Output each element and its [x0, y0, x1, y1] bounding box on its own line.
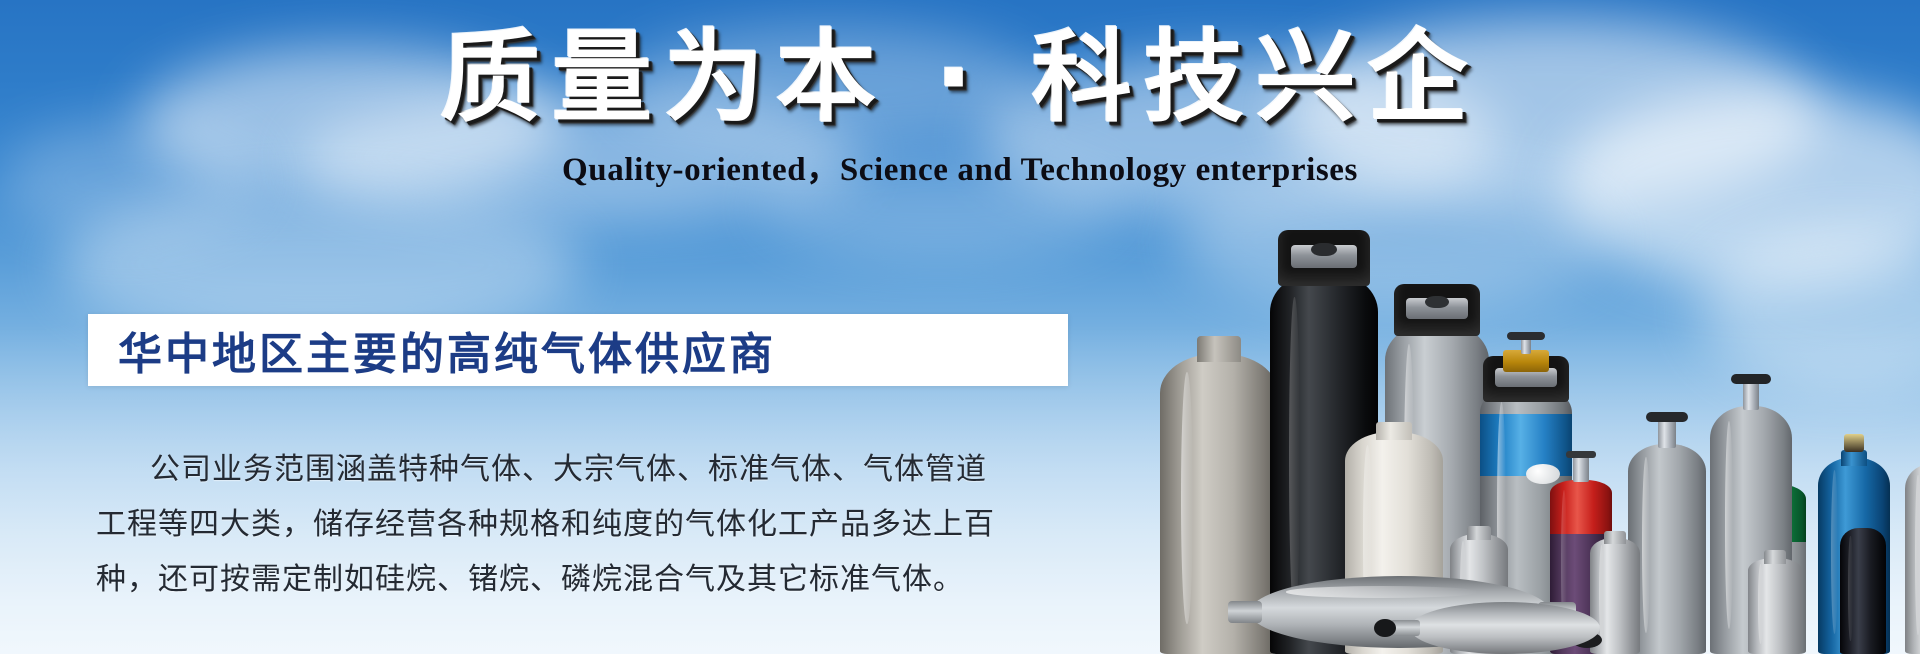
aluminium-small-cylinder: [1748, 558, 1802, 654]
description-line-3: 种，还可按需定制如硅烷、锗烷、磷烷混合气及其它标准气体。: [96, 552, 1046, 607]
hero-banner: 质量为本 · 科技兴企 Quality-oriented，Science and…: [0, 0, 1920, 654]
banner-headline: 质量为本 · 科技兴企: [0, 22, 1920, 134]
callout-text: 华中地区主要的高纯气体供应商: [118, 318, 776, 382]
description-line-2: 工程等四大类，储存经营各种规格和纯度的气体化工产品多达上百: [96, 497, 1046, 552]
horizontal-small-tank: [1410, 602, 1600, 654]
gas-cylinder-collage: [1150, 180, 1920, 654]
callout-box: 华中地区主要的高纯气体供应商: [88, 314, 1068, 386]
description-line-1: 公司业务范围涵盖特种气体、大宗气体、标准气体、气体管道: [96, 442, 1046, 497]
banner-description: 公司业务范围涵盖特种气体、大宗气体、标准气体、气体管道 工程等四大类，储存经营各…: [96, 442, 1046, 607]
black-small-cylinder: [1840, 528, 1886, 654]
aluminium-cylinder: [1905, 464, 1920, 654]
